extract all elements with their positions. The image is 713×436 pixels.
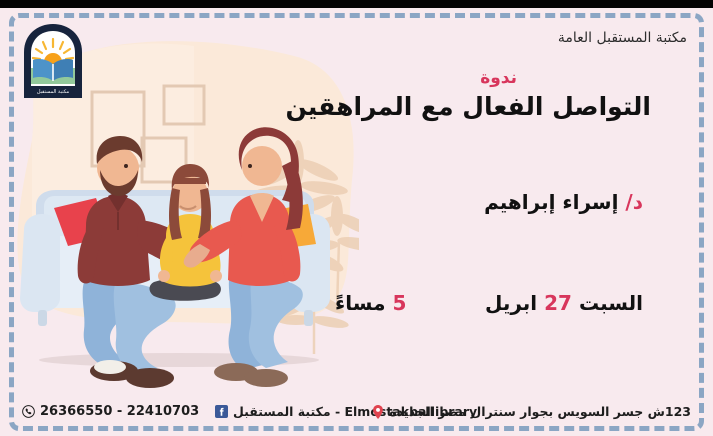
logo-caption: مكتبة المستقبل [37,89,70,95]
event-time-number: 5 [392,291,406,315]
footer-address: 123ش جسر السويس بجوار سنترال مصر الجديدة [372,404,691,419]
footer: 26366550 - 22410703 مكتبة المستقبل - Elm… [0,402,713,426]
location-pin-icon [372,405,384,419]
top-black-band [0,0,713,8]
speaker-prefix: د/ [625,190,643,214]
footer-phone-text: 26366550 - 22410703 [40,404,199,419]
facebook-icon[interactable] [215,405,228,418]
library-logo: مكتبة المستقبل [18,22,88,102]
speaker-name: د/ إسراء إبراهيم [484,190,643,214]
event-date: السبت 27 ابريل [485,291,643,315]
event-time-period: مساءً [335,291,385,315]
event-month: ابريل [485,291,537,315]
event-day: السبت [579,291,643,315]
event-type-kicker: ندوة [480,68,517,88]
event-time: 5 مساءً [335,291,406,315]
footer-phone: 26366550 - 22410703 [22,404,199,419]
library-name: مكتبة المستقبل العامة [558,30,687,46]
page-title: التواصل الفعال مع المراهقين [285,92,651,121]
poster-canvas: مكتبة المستقبل مكتبة المستقبل العامة ندو… [0,8,713,436]
event-date-number: 27 [544,291,572,315]
speaker-fullname: إسراء إبراهيم [484,190,618,214]
footer-address-text: 123ش جسر السويس بجوار سنترال مصر الجديدة [389,404,691,419]
phone-icon [22,405,35,418]
